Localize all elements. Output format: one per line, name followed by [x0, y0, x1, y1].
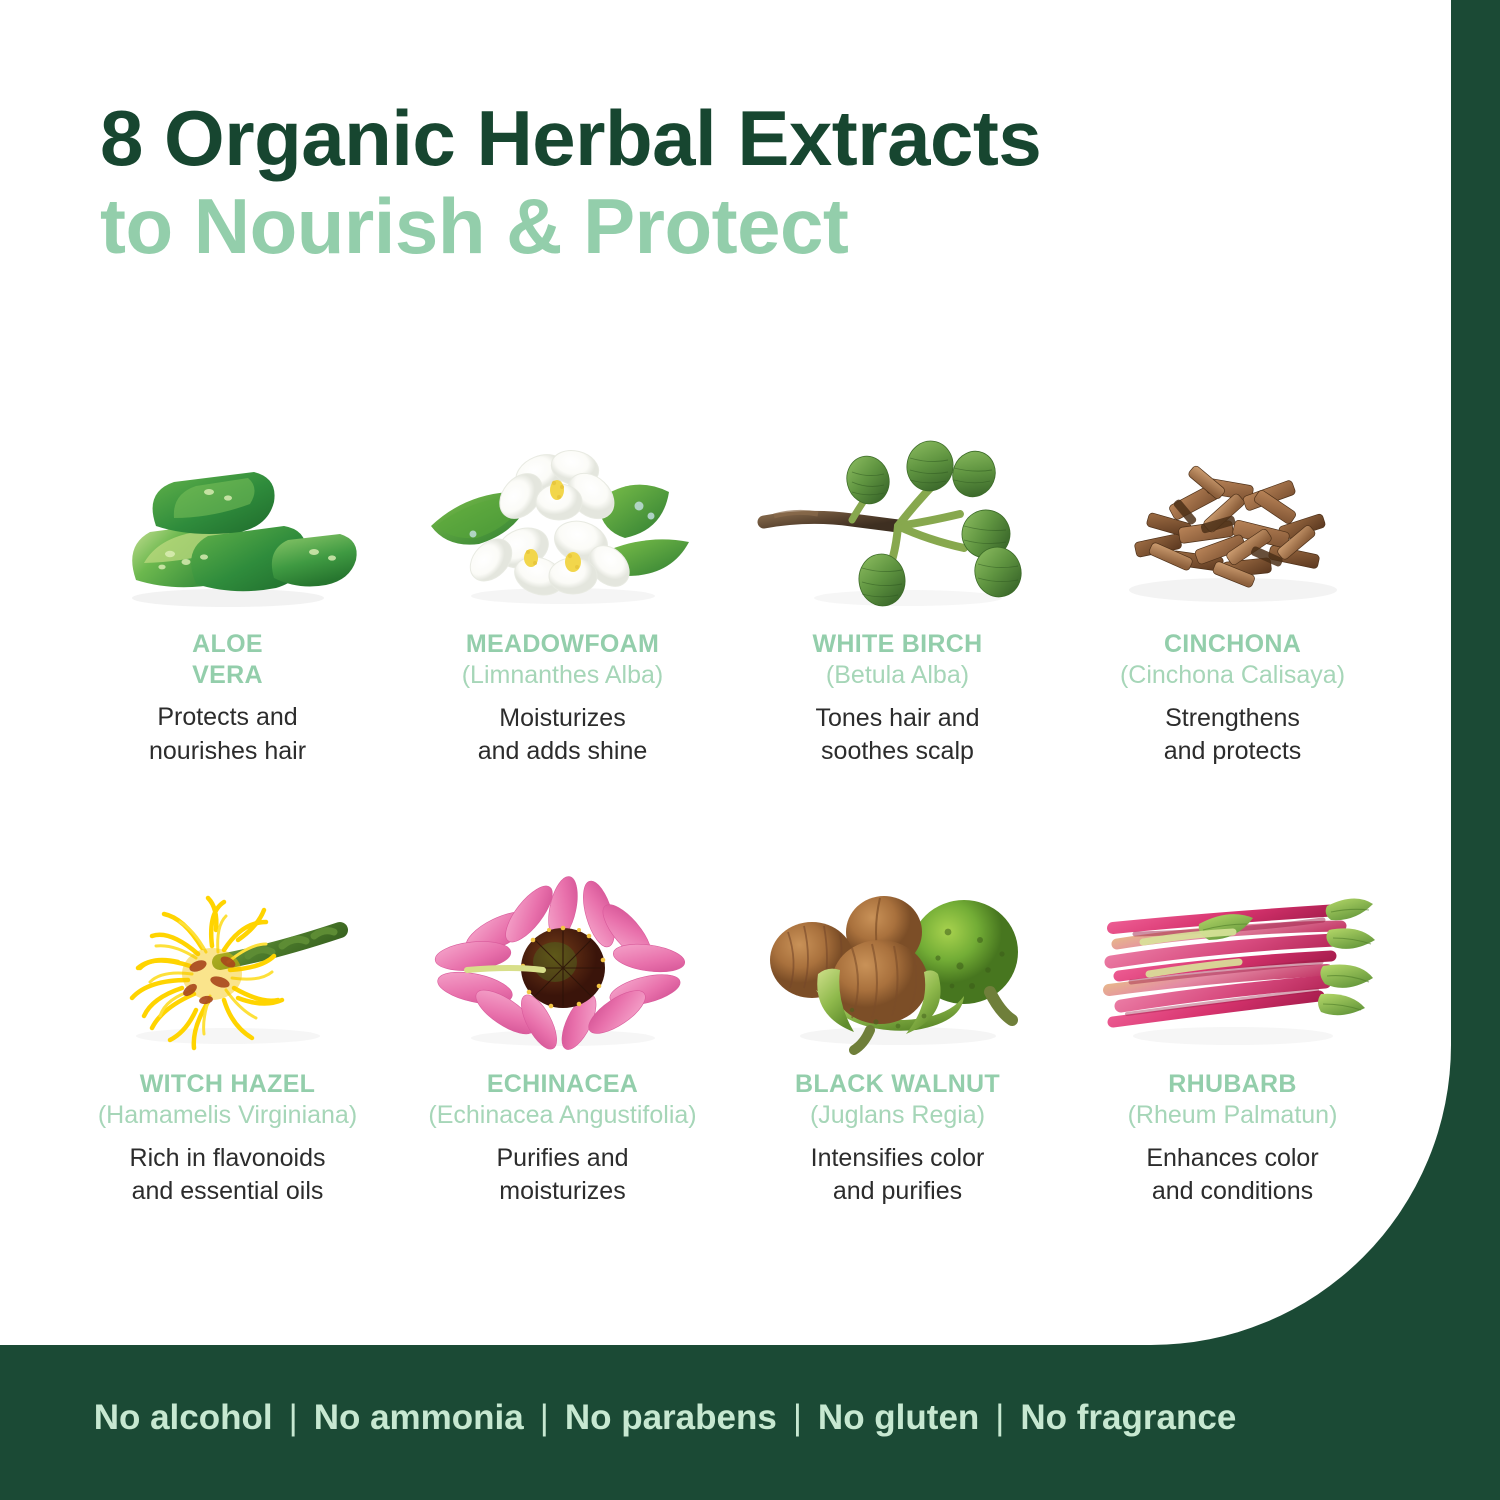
- ingredient-benefit: Strengthens and protects: [1164, 702, 1302, 769]
- witch-hazel-flower-icon: [78, 870, 378, 1055]
- ingredient-benefit: Purifies and moisturizes: [496, 1142, 628, 1209]
- claim-item: No gluten: [818, 1398, 979, 1438]
- ingredient-latin-name: (Limnanthes Alba): [462, 660, 664, 691]
- echinacea-flower-icon: [413, 870, 713, 1055]
- ingredient-name: WHITE BIRCH: [813, 629, 983, 660]
- claim-item: No ammonia: [314, 1398, 524, 1438]
- ingredient-name: BLACK WALNUT: [795, 1069, 1000, 1100]
- ingredient-card: CINCHONA (Cinchona Calisaya) Strengthens…: [1065, 430, 1400, 750]
- aloe-vera-icon: [78, 430, 378, 615]
- white-birch-branch-icon: [748, 430, 1048, 615]
- claims-bar: No alcohol | No ammonia | No parabens | …: [0, 1398, 1330, 1438]
- ingredient-latin-name: (Hamamelis Virginiana): [98, 1100, 357, 1131]
- claim-separator: |: [777, 1398, 818, 1438]
- ingredient-card: WITCH HAZEL (Hamamelis Virginiana) Rich …: [60, 870, 395, 1190]
- ingredient-benefit: Moisturizes and adds shine: [478, 702, 648, 769]
- ingredient-name: ALOE VERA: [192, 629, 263, 690]
- page-title: 8 Organic Herbal Extracts to Nourish & P…: [100, 98, 1380, 274]
- rhubarb-stalks-icon: [1083, 870, 1383, 1055]
- ingredient-latin-name: (Cinchona Calisaya): [1120, 660, 1345, 691]
- ingredient-latin-name: (Echinacea Angustifolia): [428, 1100, 696, 1131]
- ingredient-benefit: Tones hair and soothes scalp: [815, 702, 979, 769]
- claim-item: No parabens: [565, 1398, 777, 1438]
- ingredient-name: MEADOWFOAM: [466, 629, 659, 660]
- claim-item: No alcohol: [94, 1398, 273, 1438]
- ingredient-latin-name: (Betula Alba): [826, 660, 969, 691]
- ingredient-benefit: Rich in flavonoids and essential oils: [130, 1142, 326, 1209]
- ingredient-card: ECHINACEA (Echinacea Angustifolia) Purif…: [395, 870, 730, 1190]
- claim-item: No fragrance: [1020, 1398, 1236, 1438]
- ingredient-latin-name: (Rheum Palmatun): [1128, 1100, 1338, 1131]
- title-line-primary: 8 Organic Herbal Extracts: [100, 98, 1380, 179]
- claim-separator: |: [273, 1398, 314, 1438]
- claim-separator: |: [979, 1398, 1020, 1438]
- ingredient-card: WHITE BIRCH (Betula Alba) Tones hair and…: [730, 430, 1065, 750]
- ingredient-card: MEADOWFOAM (Limnanthes Alba) Moisturizes…: [395, 430, 730, 750]
- ingredient-latin-name: (Juglans Regia): [810, 1100, 985, 1131]
- meadowfoam-flower-icon: [413, 430, 713, 615]
- ingredient-name: WITCH HAZEL: [140, 1069, 316, 1100]
- ingredient-card: BLACK WALNUT (Juglans Regia) Intensifies…: [730, 870, 1065, 1190]
- title-line-secondary: to Nourish & Protect: [100, 179, 1380, 274]
- ingredient-name: RHUBARB: [1168, 1069, 1296, 1100]
- claim-separator: |: [524, 1398, 565, 1438]
- ingredient-benefit: Intensifies color and purifies: [811, 1142, 985, 1209]
- ingredient-grid: ALOE VERA Protects and nourishes hair: [60, 430, 1400, 1190]
- ingredient-benefit: Protects and nourishes hair: [149, 701, 306, 768]
- ingredient-card: RHUBARB (Rheum Palmatun) Enhances color …: [1065, 870, 1400, 1190]
- ingredient-name: CINCHONA: [1164, 629, 1301, 660]
- poster-root: 8 Organic Herbal Extracts to Nourish & P…: [0, 0, 1500, 1500]
- ingredient-name: ECHINACEA: [487, 1069, 638, 1100]
- cinchona-bark-icon: [1083, 430, 1383, 615]
- ingredient-card: ALOE VERA Protects and nourishes hair: [60, 430, 395, 750]
- black-walnut-icon: [748, 870, 1048, 1055]
- ingredient-benefit: Enhances color and conditions: [1146, 1142, 1318, 1209]
